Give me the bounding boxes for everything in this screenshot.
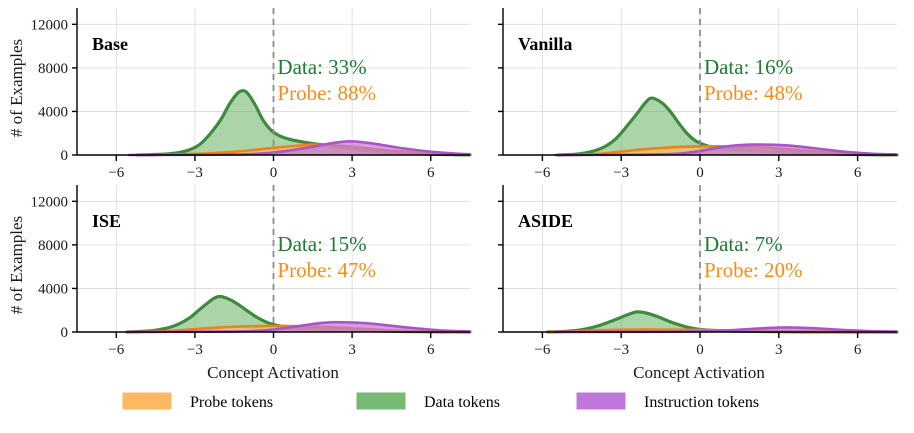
x-axis-title: Concept Activation (207, 363, 339, 382)
annotation-probe-ise: Probe: 47% (277, 258, 376, 282)
panel-ise: 04000800012000−6−3036ISEData: 15%Probe: … (31, 185, 471, 358)
annotation-data-aside: Data: 7% (704, 232, 783, 256)
y-tick-label: 4000 (38, 281, 68, 297)
legend: Probe tokensData tokensInstruction token… (122, 392, 759, 411)
x-tick-label: 3 (775, 342, 783, 358)
x-tick-label: −6 (108, 342, 124, 358)
annotation-probe-vanilla: Probe: 48% (704, 81, 803, 105)
x-tick-label: 0 (696, 342, 704, 358)
x-tick-label: 0 (270, 165, 278, 181)
x-tick-label: 3 (348, 165, 356, 181)
x-tick-label: 0 (270, 342, 278, 358)
x-tick-label: −3 (187, 165, 203, 181)
y-tick-label: 0 (61, 148, 69, 164)
y-axis-title: # of Examples (7, 216, 26, 314)
x-tick-label: −6 (534, 342, 550, 358)
x-tick-label: −6 (534, 165, 550, 181)
x-tick-label: 6 (427, 165, 435, 181)
x-tick-label: 6 (854, 342, 862, 358)
legend-label-data: Data tokens (424, 394, 500, 411)
x-tick-label: 3 (348, 342, 356, 358)
x-tick-label: −6 (108, 165, 124, 181)
y-tick-label: 8000 (38, 61, 68, 77)
y-tick-label: 4000 (38, 104, 68, 120)
panel-aside: −6−3036ASIDEData: 7%Probe: 20% (498, 185, 897, 358)
x-axis-title: Concept Activation (633, 363, 765, 382)
legend-item-probe[interactable]: Probe tokens (122, 392, 273, 411)
panel-title-base: Base (92, 34, 128, 54)
legend-label-probe: Probe tokens (190, 394, 273, 411)
legend-swatch-instruction (576, 392, 626, 410)
panel-title-ise: ISE (92, 211, 121, 231)
annotation-data-base: Data: 33% (277, 55, 366, 79)
panel-title-vanilla: Vanilla (518, 34, 572, 54)
legend-swatch-data (356, 392, 406, 410)
annotation-data-ise: Data: 15% (277, 232, 366, 256)
legend-swatch-probe (122, 392, 172, 410)
x-tick-label: 6 (854, 165, 862, 181)
legend-item-instruction[interactable]: Instruction tokens (576, 392, 759, 411)
legend-item-data[interactable]: Data tokens (356, 392, 500, 411)
annotation-data-vanilla: Data: 16% (704, 55, 793, 79)
panel-vanilla: −6−3036VanillaData: 16%Probe: 48% (498, 8, 897, 181)
x-tick-label: 6 (427, 342, 435, 358)
x-tick-label: 0 (696, 165, 704, 181)
y-tick-label: 8000 (38, 238, 68, 254)
panel-base: 04000800012000−6−3036BaseData: 33%Probe:… (31, 8, 471, 181)
chart-svg: 04000800012000−6−3036BaseData: 33%Probe:… (0, 0, 914, 433)
annotation-probe-aside: Probe: 20% (704, 258, 803, 282)
y-axis-title: # of Examples (7, 39, 26, 137)
x-tick-label: −3 (613, 342, 629, 358)
figure-root: 04000800012000−6−3036BaseData: 33%Probe:… (0, 0, 914, 433)
y-tick-label: 12000 (31, 17, 69, 33)
x-tick-label: −3 (613, 165, 629, 181)
x-tick-label: 3 (775, 165, 783, 181)
annotation-probe-base: Probe: 88% (277, 81, 376, 105)
x-tick-label: −3 (187, 342, 203, 358)
legend-label-instruction: Instruction tokens (644, 394, 759, 411)
panel-title-aside: ASIDE (518, 211, 573, 231)
y-tick-label: 0 (61, 325, 69, 341)
y-tick-label: 12000 (31, 194, 69, 210)
